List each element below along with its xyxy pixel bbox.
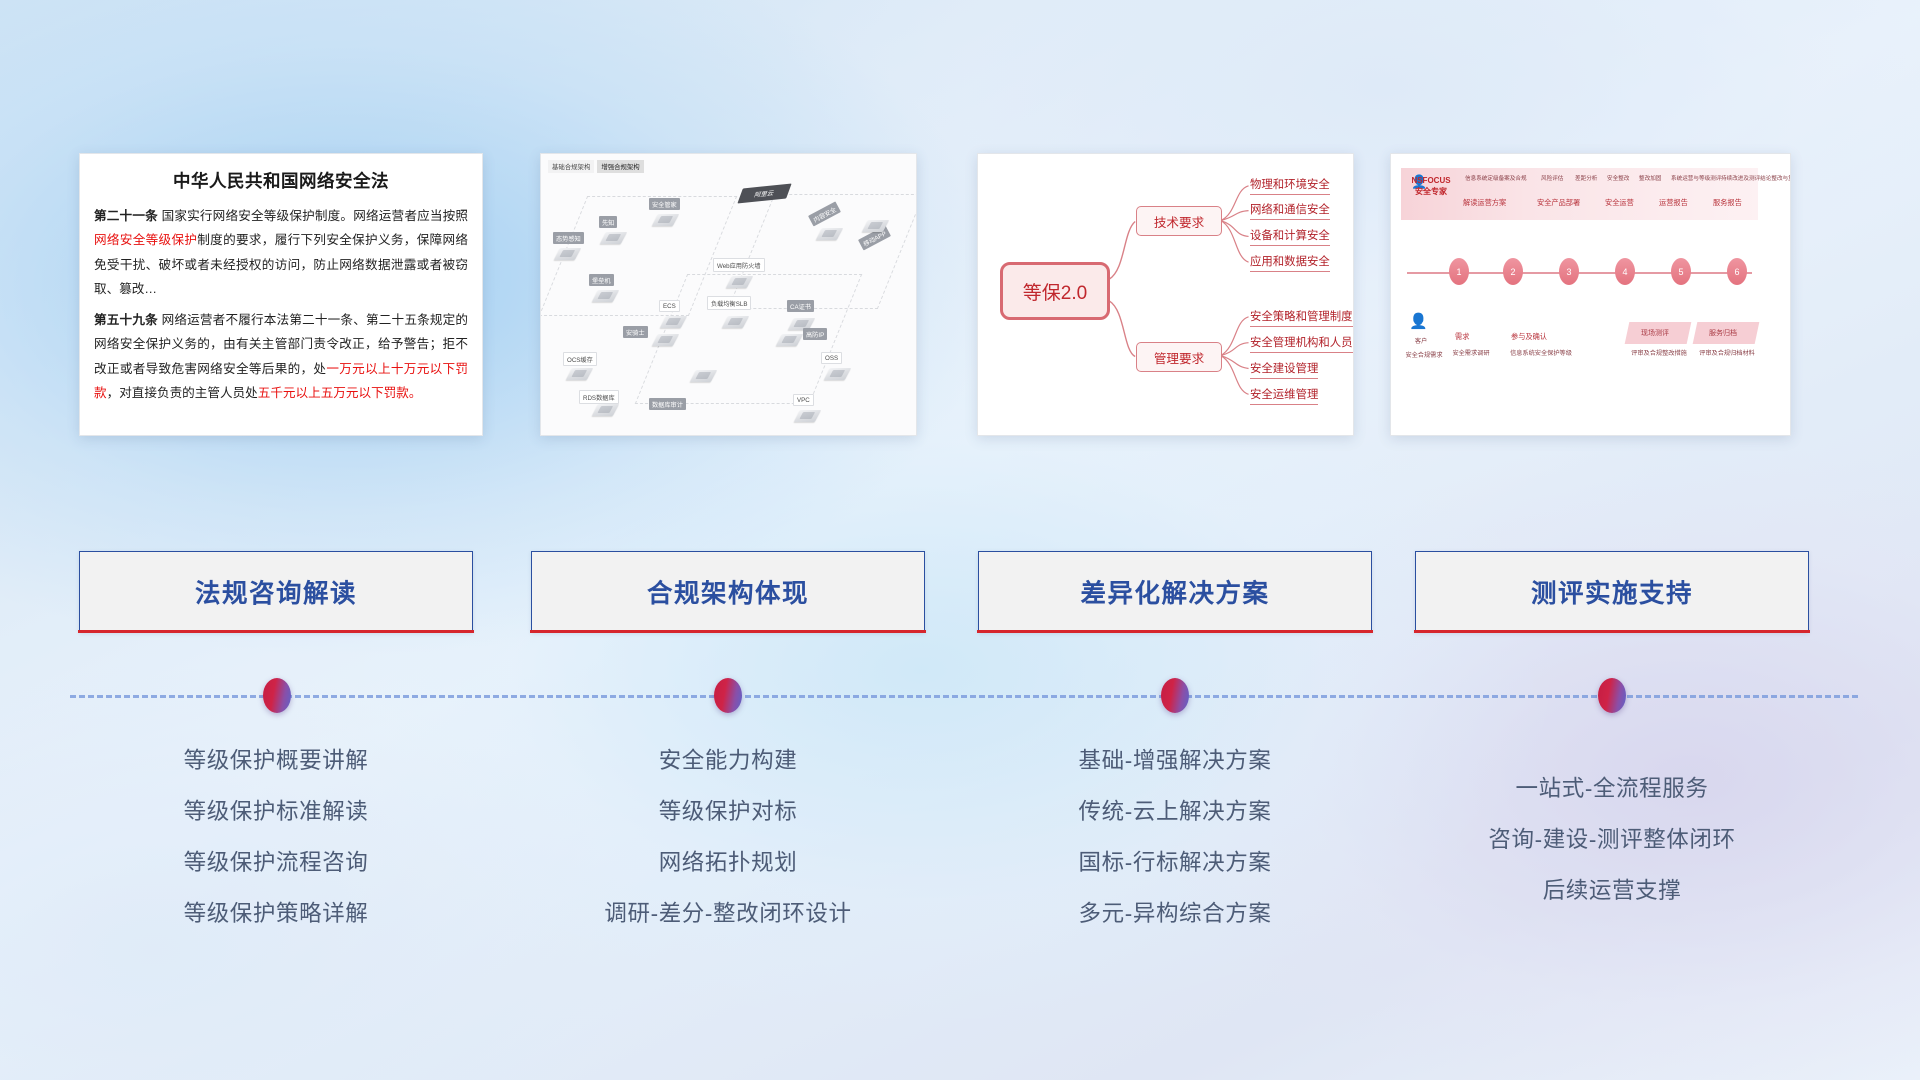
timeline	[70, 694, 1858, 698]
section-title-box-2[interactable]: 合规架构体现	[531, 551, 925, 633]
service-item: 后续运营支撑	[1415, 880, 1809, 903]
service-item: 咨询-建设-测评整体闭环	[1415, 829, 1809, 852]
service-item: 等级保护对标	[531, 801, 925, 824]
timeline-dot-1[interactable]	[263, 678, 291, 713]
service-item: 一站式-全流程服务	[1415, 778, 1809, 801]
service-column-4: 一站式-全流程服务 咨询-建设-测评整体闭环 后续运营支撑	[1415, 778, 1809, 931]
section-title-text-1: 法规咨询解读	[195, 573, 357, 610]
service-column-2: 安全能力构建 等级保护对标 网络拓扑规划 调研-差分-整改闭环设计	[531, 750, 925, 954]
service-item: 等级保护流程咨询	[79, 852, 473, 875]
service-column-1: 等级保护概要讲解 等级保护标准解读 等级保护流程咨询 等级保护策略详解	[79, 750, 473, 954]
section-title-box-1[interactable]: 法规咨询解读	[79, 551, 473, 633]
timeline-dot-2[interactable]	[714, 678, 742, 713]
service-column-3: 基础-增强解决方案 传统-云上解决方案 国标-行标解决方案 多元-异构综合方案	[978, 750, 1372, 954]
service-item: 基础-增强解决方案	[978, 750, 1372, 773]
timeline-dot-3[interactable]	[1161, 678, 1189, 713]
service-item: 调研-差分-整改闭环设计	[531, 903, 925, 926]
section-title-box-3[interactable]: 差异化解决方案	[978, 551, 1372, 633]
service-item: 等级保护策略详解	[79, 903, 473, 926]
service-item: 等级保护概要讲解	[79, 750, 473, 773]
service-item: 等级保护标准解读	[79, 801, 473, 824]
service-item: 多元-异构综合方案	[978, 903, 1372, 926]
service-item: 安全能力构建	[531, 750, 925, 773]
section-title-text-2: 合规架构体现	[647, 573, 809, 610]
timeline-dashed-line	[70, 695, 1858, 698]
service-item: 网络拓扑规划	[531, 852, 925, 875]
section-title-box-4[interactable]: 测评实施支持	[1415, 551, 1809, 633]
service-item: 国标-行标解决方案	[978, 852, 1372, 875]
service-item: 传统-云上解决方案	[978, 801, 1372, 824]
timeline-dot-4[interactable]	[1598, 678, 1626, 713]
section-title-text-3: 差异化解决方案	[1080, 573, 1269, 610]
section-title-text-4: 测评实施支持	[1531, 573, 1693, 610]
